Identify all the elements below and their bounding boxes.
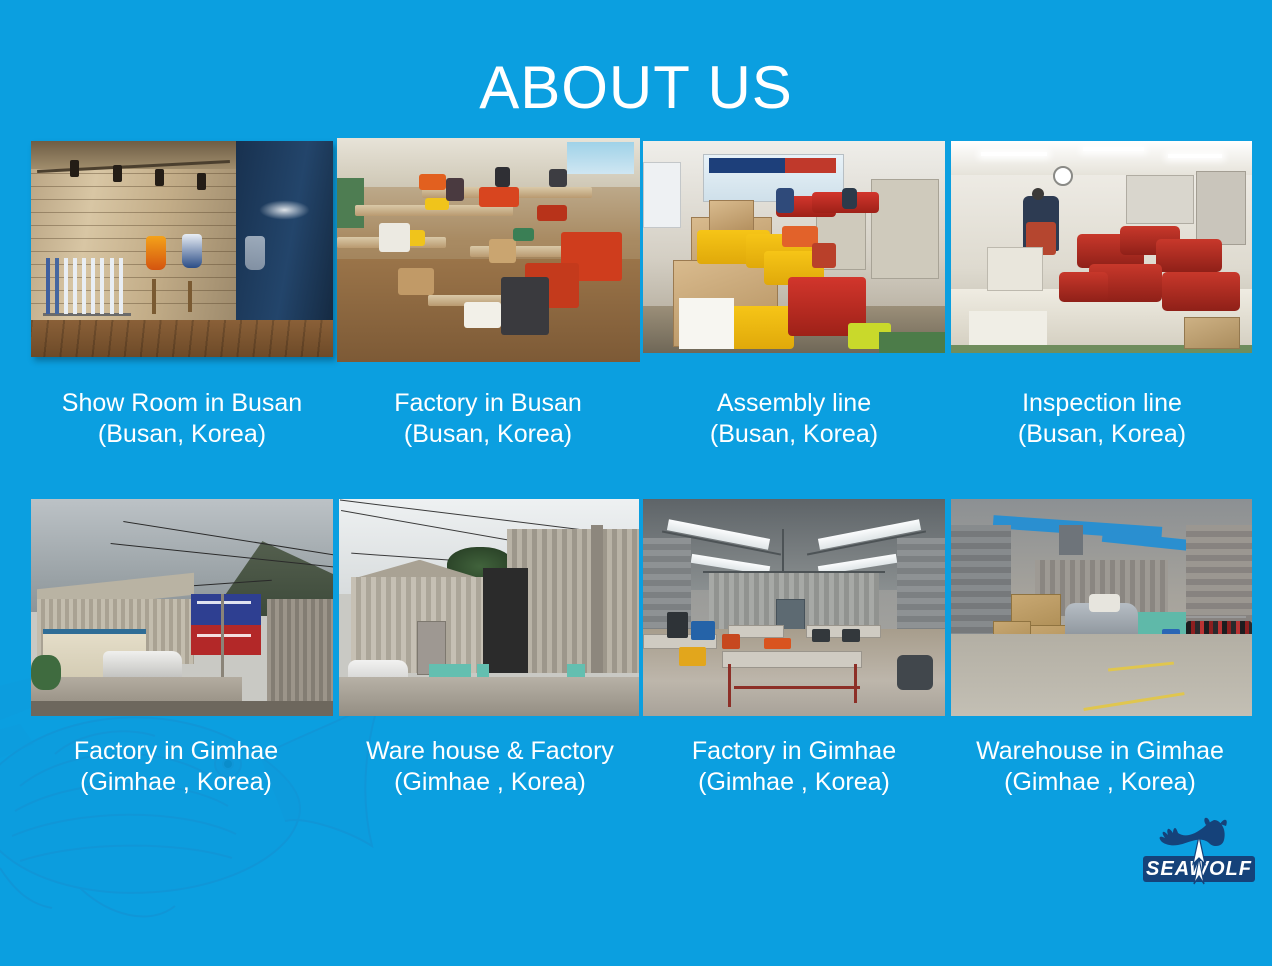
caption-location: (Busan, Korea) [21,419,343,450]
caption-location: (Gimhae , Korea) [935,767,1265,798]
gallery-tile-warehouse-and-factory[interactable] [339,499,639,716]
caption-title: Ware house & Factory [366,737,614,765]
caption-factory-in-gimhae-exterior: Factory in Gimhae (Gimhae , Korea) [11,736,341,798]
caption-location: (Busan, Korea) [327,419,649,450]
caption-show-room-in-busan: Show Room in Busan (Busan, Korea) [21,388,343,450]
caption-title: Inspection line [1022,389,1182,417]
gallery-tile-warehouse-in-gimhae[interactable] [951,499,1252,716]
caption-factory-in-busan: Factory in Busan (Busan, Korea) [327,388,649,450]
about-us-slide: ABOUT US [0,0,1272,896]
photo-show-room-in-busan [31,141,333,357]
caption-title: Assembly line [717,389,871,417]
korean-signboard-top [191,594,260,624]
gallery-tile-assembly-line[interactable] [643,141,945,353]
gallery-tile-factory-in-gimhae-interior[interactable] [643,499,945,716]
photo-warehouse-and-factory [339,499,639,716]
caption-title: Show Room in Busan [62,389,302,417]
caption-location: (Busan, Korea) [941,419,1263,450]
photo-factory-in-busan [337,138,640,362]
gallery-tile-factory-in-gimhae-exterior[interactable] [31,499,333,716]
caption-title: Warehouse in Gimhae [976,737,1224,765]
caption-title: Factory in Gimhae [692,737,896,765]
gallery-tile-inspection-line[interactable] [951,141,1252,353]
korean-signboard-bottom [191,625,260,655]
photo-factory-in-gimhae-interior [643,499,945,716]
photo-factory-in-gimhae-exterior [31,499,333,716]
caption-assembly-line: Assembly line (Busan, Korea) [633,388,955,450]
photo-inspection-line [951,141,1252,353]
caption-warehouse-in-gimhae: Warehouse in Gimhae (Gimhae , Korea) [935,736,1265,798]
page-title: ABOUT US [0,52,1272,124]
caption-warehouse-and-factory: Ware house & Factory (Gimhae , Korea) [329,736,651,798]
caption-location: (Busan, Korea) [633,419,955,450]
gallery-tile-show-room-in-busan[interactable] [31,141,333,357]
caption-factory-in-gimhae-interior: Factory in Gimhae (Gimhae , Korea) [633,736,955,798]
caption-location: (Gimhae , Korea) [329,767,651,798]
caption-title: Factory in Gimhae [74,737,278,765]
caption-location: (Gimhae , Korea) [633,767,955,798]
caption-inspection-line: Inspection line (Busan, Korea) [941,388,1263,450]
photo-assembly-line [643,141,945,353]
gallery-tile-factory-in-busan[interactable] [337,138,640,362]
caption-title: Factory in Busan [394,389,582,417]
seawolf-logo: SEAWOLF [1140,814,1258,890]
caption-location: (Gimhae , Korea) [11,767,341,798]
photo-warehouse-in-gimhae [951,499,1252,716]
